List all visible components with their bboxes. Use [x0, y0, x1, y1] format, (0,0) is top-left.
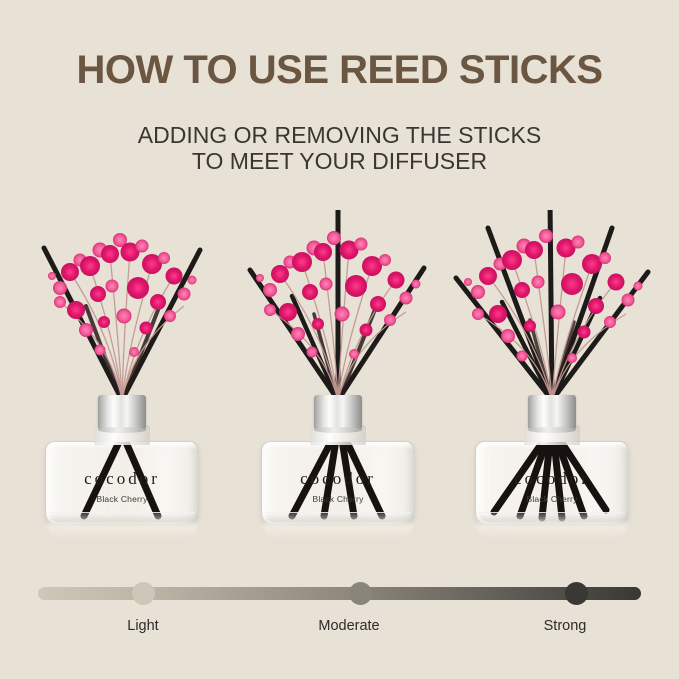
diffuser-moderate[interactable]: cocodor Black Cherry — [228, 210, 448, 570]
flavor-label: Black Cherry — [262, 494, 414, 504]
flavor-label: Black Cherry — [476, 494, 628, 504]
bottle-jar: cocodor Black Cherry — [261, 441, 415, 525]
flavor-label: Black Cherry — [46, 494, 198, 504]
page-subtitle: ADDING OR REMOVING THE STICKS TO MEET YO… — [0, 122, 679, 174]
slider-knob-moderate[interactable] — [349, 582, 372, 605]
intensity-slider[interactable] — [38, 582, 641, 604]
infographic-canvas: HOW TO USE REED STICKS ADDING OR REMOVIN… — [0, 0, 679, 679]
bouquet-strong — [442, 210, 662, 410]
slider-track[interactable] — [38, 587, 641, 600]
subtitle-line-2: TO MEET YOUR DIFFUSER — [0, 148, 679, 174]
slider-label-strong: Strong — [505, 618, 625, 634]
jar-bottom-rim — [265, 512, 411, 522]
bottle-light: cocodor Black Cherry — [42, 395, 202, 525]
bottle-jar: cocodor Black Cherry — [45, 441, 199, 525]
slider-knob-light[interactable] — [132, 582, 155, 605]
brand-logo: cocodor — [46, 469, 198, 489]
product-row: cocodor Black Cherry — [0, 210, 679, 570]
subtitle-line-1: ADDING OR REMOVING THE STICKS — [0, 122, 679, 148]
page-title: HOW TO USE REED STICKS — [0, 48, 679, 93]
bottle-cap — [98, 395, 146, 429]
flower-arrangement-icon — [442, 210, 662, 410]
bouquet-light — [12, 210, 232, 410]
bottle-reflection — [263, 523, 413, 557]
bottle-strong: cocodor Black Cherry — [472, 395, 632, 525]
slider-knob-strong[interactable] — [565, 582, 588, 605]
diffuser-strong[interactable]: cocodor Black Cherry — [442, 210, 662, 570]
jar-bottom-rim — [479, 512, 625, 522]
brand-logo: cocodor — [262, 469, 414, 489]
slider-label-light: Light — [83, 618, 203, 634]
bottle-jar: cocodor Black Cherry — [475, 441, 629, 525]
flower-arrangement-icon — [228, 210, 448, 410]
bouquet-moderate — [228, 210, 448, 410]
slider-label-row: Light Moderate Strong — [0, 618, 679, 642]
bottle-moderate: cocodor Black Cherry — [258, 395, 418, 525]
slider-label-moderate: Moderate — [289, 618, 409, 634]
brand-logo: cocodor — [476, 469, 628, 489]
bottle-reflection — [47, 523, 197, 557]
flower-arrangement-icon — [12, 210, 232, 410]
bottle-cap — [528, 395, 576, 429]
diffuser-light[interactable]: cocodor Black Cherry — [12, 210, 232, 570]
jar-bottom-rim — [49, 512, 195, 522]
bottle-cap — [314, 395, 362, 429]
bottle-reflection — [477, 523, 627, 557]
